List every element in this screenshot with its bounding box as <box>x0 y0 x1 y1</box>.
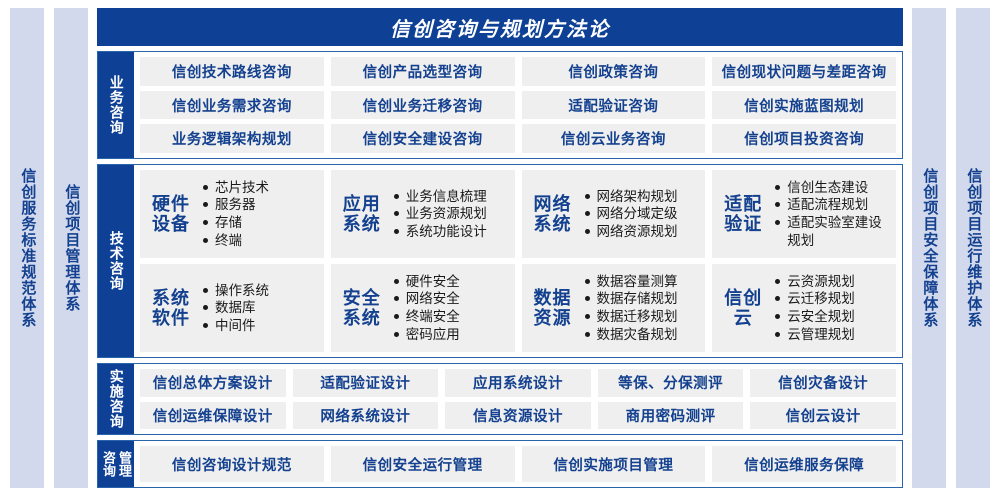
tech-card-item: 云资源规划 <box>774 273 888 291</box>
business-row-2: 信创业务需求咨询 信创业务迁移咨询 适配验证咨询 信创实施蓝图规划 <box>140 91 896 120</box>
panel-label-technical: 技术咨询 <box>98 165 134 357</box>
tech-card-list: 信创生态建设 适配流程规划 适配实验室建设规划 <box>774 179 888 249</box>
chip-management[interactable]: 信创运维服务保障 <box>712 446 896 482</box>
chip-business[interactable]: 信创安全建设咨询 <box>331 124 515 153</box>
tech-card[interactable]: 应用系统 业务信息梳理 业务资源规划 系统功能设计 <box>331 170 515 258</box>
panel-body-implementation: 信创总体方案设计 适配验证设计 应用系统设计 等保、分保测评 信创灾备设计 信创… <box>134 364 902 434</box>
business-row-1: 信创技术路线咨询 信创产品选型咨询 信创政策咨询 信创现状问题与差距咨询 <box>140 57 896 86</box>
tech-card-item: 系统功能设计 <box>393 223 507 241</box>
pillar-project-management: 信创项目管理体系 <box>54 8 88 488</box>
pillar-project-operation: 信创项目运行维护体系 <box>956 8 990 488</box>
panel-label-management-col2: 管理 <box>117 451 131 477</box>
pillar-project-security: 信创项目安全保障体系 <box>912 8 946 488</box>
management-row-1: 信创咨询设计规范 信创安全运行管理 信创实施项目管理 信创运维服务保障 <box>140 446 896 482</box>
tech-card-item: 网络安全 <box>393 290 507 308</box>
panel-body-management: 信创咨询设计规范 信创安全运行管理 信创实施项目管理 信创运维服务保障 <box>134 441 902 487</box>
tech-card-item: 芯片技术 <box>202 179 316 197</box>
chip-business[interactable]: 信创实施蓝图规划 <box>712 91 896 120</box>
diagram-root: 信创服务标准规范体系 信创项目管理体系 信创咨询与规划方法论 业务咨询 信创技术… <box>0 0 1000 496</box>
tech-card[interactable]: 适配验证 信创生态建设 适配流程规划 适配实验室建设规划 <box>712 170 896 258</box>
tech-card-item: 数据迁移规划 <box>584 308 698 326</box>
tech-card-item: 网络架构规划 <box>584 188 698 206</box>
tech-card-title: 网络系统 <box>530 194 576 234</box>
chip-implementation[interactable]: 商用密码测评 <box>598 402 744 430</box>
tech-card-title: 数据资源 <box>530 288 576 328</box>
center-stack: 信创咨询与规划方法论 业务咨询 信创技术路线咨询 信创产品选型咨询 信创政策咨询… <box>97 8 903 488</box>
chip-implementation[interactable]: 网络系统设计 <box>293 402 439 430</box>
chip-business[interactable]: 适配验证咨询 <box>522 91 706 120</box>
panel-label-implementation: 实施咨询 <box>98 364 134 434</box>
tech-card-list: 业务信息梳理 业务资源规划 系统功能设计 <box>393 188 507 241</box>
panel-business-consulting: 业务咨询 信创技术路线咨询 信创产品选型咨询 信创政策咨询 信创现状问题与差距咨… <box>97 51 903 159</box>
chip-implementation[interactable]: 信创总体方案设计 <box>140 369 286 397</box>
implementation-row-1: 信创总体方案设计 适配验证设计 应用系统设计 等保、分保测评 信创灾备设计 <box>140 369 896 397</box>
chip-business[interactable]: 信创产品选型咨询 <box>331 57 515 86</box>
tech-card-title: 适配验证 <box>720 194 766 234</box>
tech-card-title: 信创云 <box>720 288 766 328</box>
business-row-3: 业务逻辑架构规划 信创安全建设咨询 信创云业务咨询 信创项目投资咨询 <box>140 124 896 153</box>
tech-card-item: 存储 <box>202 214 316 232</box>
tech-card-item: 云管理规划 <box>774 326 888 344</box>
panel-implementation-consulting: 实施咨询 信创总体方案设计 适配验证设计 应用系统设计 等保、分保测评 信创灾备… <box>97 363 903 435</box>
tech-card[interactable]: 信创云 云资源规划 云迁移规划 云安全规划 云管理规划 <box>712 264 896 352</box>
chip-business[interactable]: 信创业务需求咨询 <box>140 91 324 120</box>
tech-row-2: 系统软件 操作系统 数据库 中间件 安全系统 硬件安全 网络安全 终端安全 <box>140 264 896 352</box>
tech-card[interactable]: 网络系统 网络架构规划 网络分域定级 网络资源规划 <box>522 170 706 258</box>
chip-implementation[interactable]: 等保、分保测评 <box>598 369 744 397</box>
chip-implementation[interactable]: 信创灾备设计 <box>750 369 896 397</box>
tech-card-item: 服务器 <box>202 196 316 214</box>
chip-management[interactable]: 信创咨询设计规范 <box>140 446 324 482</box>
tech-card-item: 业务信息梳理 <box>393 188 507 206</box>
tech-card-item: 操作系统 <box>202 282 316 300</box>
tech-card-list: 操作系统 数据库 中间件 <box>202 282 316 335</box>
tech-card-item: 硬件安全 <box>393 273 507 291</box>
tech-card-item: 网络分域定级 <box>584 205 698 223</box>
panel-consulting-management: 咨询 管理 信创咨询设计规范 信创安全运行管理 信创实施项目管理 信创运维服务保… <box>97 440 903 488</box>
chip-business[interactable]: 信创现状问题与差距咨询 <box>712 57 896 86</box>
tech-row-1: 硬件设备 芯片技术 服务器 存储 终端 应用系统 业务信息梳理 业务资源规划 <box>140 170 896 258</box>
chip-management[interactable]: 信创实施项目管理 <box>522 446 706 482</box>
panel-label-business: 业务咨询 <box>98 52 134 158</box>
tech-card-item: 适配实验室建设规划 <box>774 214 888 249</box>
tech-card-item: 数据灾备规划 <box>584 326 698 344</box>
tech-card[interactable]: 系统软件 操作系统 数据库 中间件 <box>140 264 324 352</box>
chip-business[interactable]: 业务逻辑架构规划 <box>140 124 324 153</box>
chip-implementation[interactable]: 信创云设计 <box>750 402 896 430</box>
panel-technical-consulting: 技术咨询 硬件设备 芯片技术 服务器 存储 终端 应用系统 <box>97 164 903 358</box>
tech-card-item: 适配流程规划 <box>774 196 888 214</box>
chip-business[interactable]: 信创云业务咨询 <box>522 124 706 153</box>
chip-management[interactable]: 信创安全运行管理 <box>331 446 515 482</box>
tech-card-title: 硬件设备 <box>148 194 194 234</box>
chip-business[interactable]: 信创项目投资咨询 <box>712 124 896 153</box>
tech-card-item: 数据库 <box>202 299 316 317</box>
panel-label-management-col1: 咨询 <box>101 451 115 477</box>
chip-business[interactable]: 信创业务迁移咨询 <box>331 91 515 120</box>
tech-card-item: 密码应用 <box>393 326 507 344</box>
chip-implementation[interactable]: 信息资源设计 <box>445 402 591 430</box>
tech-card-item: 网络资源规划 <box>584 223 698 241</box>
tech-card-list: 硬件安全 网络安全 终端安全 密码应用 <box>393 273 507 343</box>
panel-body-business: 信创技术路线咨询 信创产品选型咨询 信创政策咨询 信创现状问题与差距咨询 信创业… <box>134 52 902 158</box>
tech-card-item: 终端 <box>202 232 316 250</box>
panel-body-technical: 硬件设备 芯片技术 服务器 存储 终端 应用系统 业务信息梳理 业务资源规划 <box>134 165 902 357</box>
tech-card-title: 安全系统 <box>339 288 385 328</box>
implementation-row-2: 信创运维保障设计 网络系统设计 信息资源设计 商用密码测评 信创云设计 <box>140 402 896 430</box>
tech-card-list: 网络架构规划 网络分域定级 网络资源规划 <box>584 188 698 241</box>
chip-business[interactable]: 信创技术路线咨询 <box>140 57 324 86</box>
tech-card-item: 云安全规划 <box>774 308 888 326</box>
tech-card-item: 业务资源规划 <box>393 205 507 223</box>
tech-card-title: 系统软件 <box>148 288 194 328</box>
tech-card-item: 信创生态建设 <box>774 179 888 197</box>
chip-implementation[interactable]: 适配验证设计 <box>293 369 439 397</box>
tech-card-item: 数据存储规划 <box>584 290 698 308</box>
tech-card[interactable]: 安全系统 硬件安全 网络安全 终端安全 密码应用 <box>331 264 515 352</box>
tech-card-item: 中间件 <box>202 317 316 335</box>
tech-card-list: 数据容量测算 数据存储规划 数据迁移规划 数据灾备规划 <box>584 273 698 343</box>
tech-card-item: 数据容量测算 <box>584 273 698 291</box>
tech-card[interactable]: 数据资源 数据容量测算 数据存储规划 数据迁移规划 数据灾备规划 <box>522 264 706 352</box>
pillar-service-standard: 信创服务标准规范体系 <box>10 8 44 488</box>
chip-business[interactable]: 信创政策咨询 <box>522 57 706 86</box>
tech-card-item: 云迁移规划 <box>774 290 888 308</box>
tech-card-list: 云资源规划 云迁移规划 云安全规划 云管理规划 <box>774 273 888 343</box>
chip-implementation[interactable]: 应用系统设计 <box>445 369 591 397</box>
chip-implementation[interactable]: 信创运维保障设计 <box>140 402 286 430</box>
tech-card-title: 应用系统 <box>339 194 385 234</box>
panel-label-management: 咨询 管理 <box>98 441 134 487</box>
tech-card[interactable]: 硬件设备 芯片技术 服务器 存储 终端 <box>140 170 324 258</box>
page-title: 信创咨询与规划方法论 <box>97 8 903 46</box>
tech-card-list: 芯片技术 服务器 存储 终端 <box>202 179 316 249</box>
tech-card-item: 终端安全 <box>393 308 507 326</box>
